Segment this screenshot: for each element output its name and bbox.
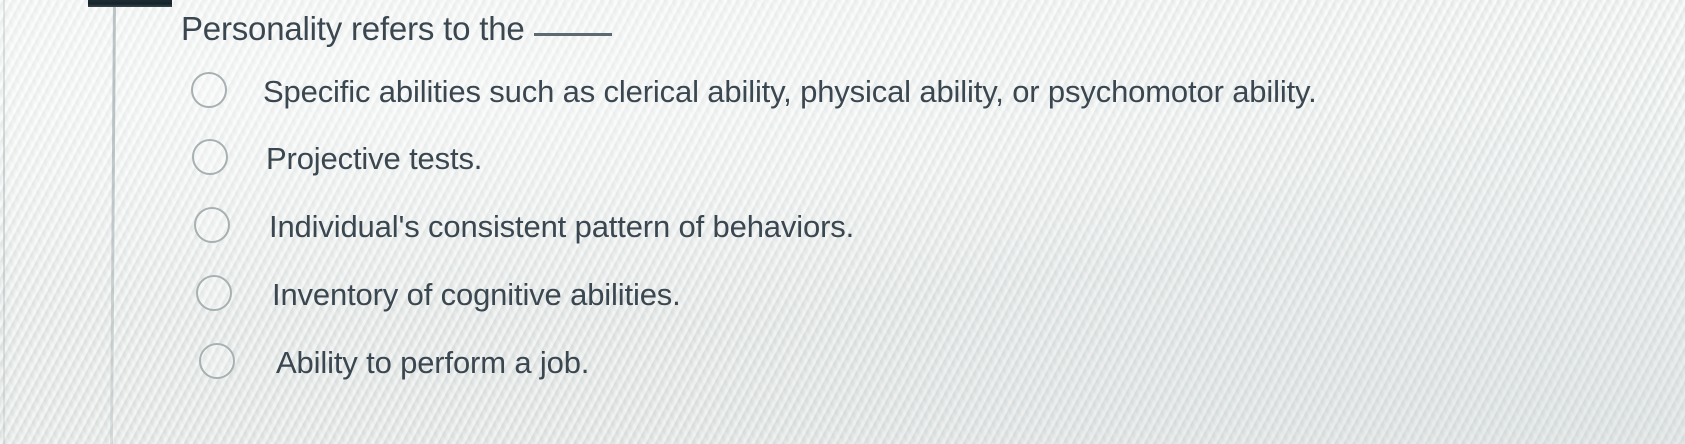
answer-option-b[interactable]: Projective tests. [0,131,1685,198]
question-stem: Personality refers to the [181,7,612,51]
question-content: Personality refers to the Specific abili… [0,0,1685,444]
radio-button-icon-c[interactable] [194,207,230,243]
answer-option-a[interactable]: Specific abilities such as clerical abil… [0,64,1685,131]
answer-option-c[interactable]: Individual's consistent pattern of behav… [0,198,1685,265]
radio-button-icon-b[interactable] [192,139,228,175]
window-chrome-bar [88,0,172,7]
answer-option-label-a: Specific abilities such as clerical abil… [263,72,1317,112]
radio-button-icon-e[interactable] [199,343,235,379]
answer-options-list: Specific abilities such as clerical abil… [0,64,1685,399]
answer-option-label-e: Ability to perform a job. [276,343,589,383]
answer-option-label-b: Projective tests. [266,139,482,179]
answer-option-label-c: Individual's consistent pattern of behav… [269,207,854,247]
question-page: Personality refers to the Specific abili… [0,0,1685,444]
radio-button-icon-d[interactable] [196,275,232,311]
answer-option-d[interactable]: Inventory of cognitive abilities. [0,265,1685,332]
answer-option-label-d: Inventory of cognitive abilities. [272,275,681,315]
question-blank [534,33,612,36]
answer-option-e[interactable]: Ability to perform a job. [0,332,1685,399]
question-stem-text: Personality refers to the [181,10,525,47]
radio-button-icon-a[interactable] [191,72,227,108]
